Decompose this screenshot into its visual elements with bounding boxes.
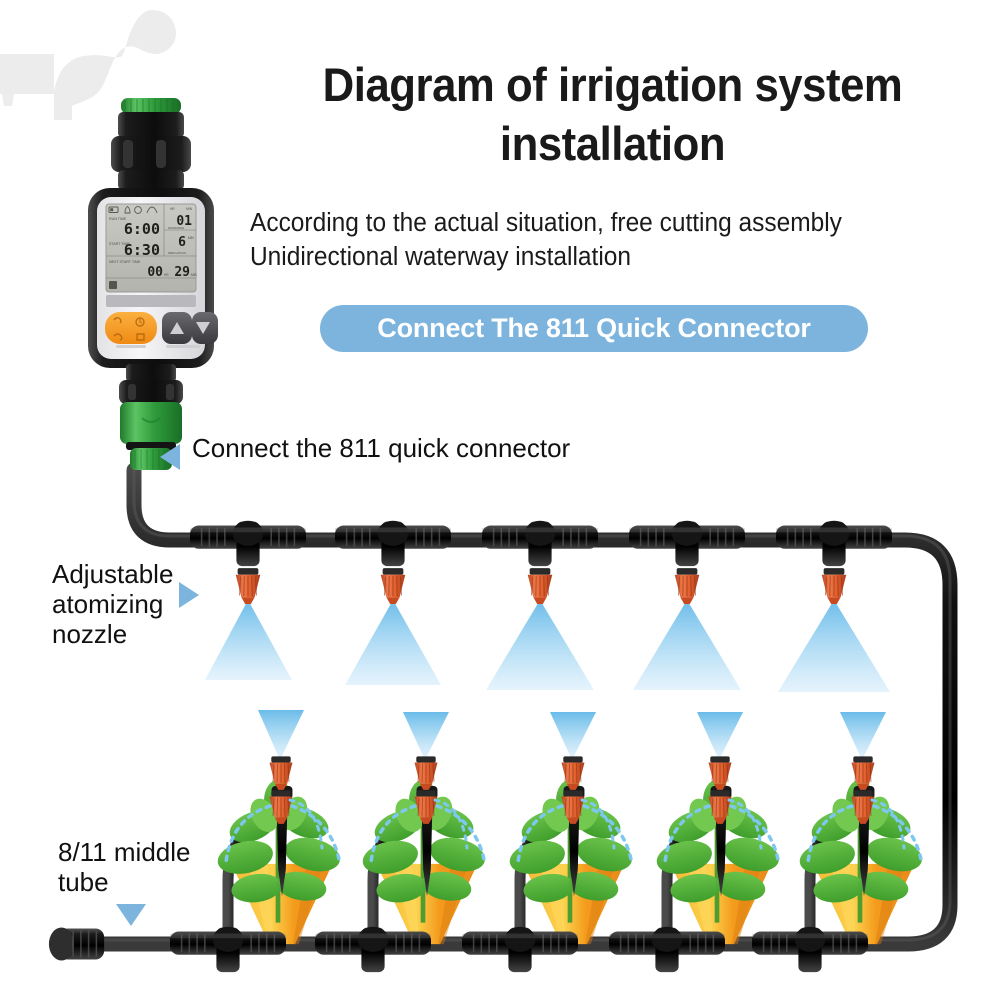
- upper-nozzle-assembly-2: [335, 521, 451, 604]
- callout-nozzle-line2: atomizing: [52, 590, 173, 620]
- tube-end-cap: [49, 928, 104, 961]
- lcd-next-start-label: NEXT START TIME: [109, 260, 141, 264]
- spray-cone: [840, 712, 886, 760]
- lcd-interval-unit-min: MIN: [186, 207, 193, 211]
- upper-nozzle-assembly-5: [776, 521, 892, 604]
- spray-cone: [633, 600, 741, 690]
- plant-assembly-3: [507, 756, 636, 944]
- lcd-start-time-value: 6:30: [124, 241, 160, 259]
- spray-cone: [778, 600, 890, 692]
- spray-cone-group-lower: [258, 710, 886, 760]
- bottom-tee-1: [170, 927, 286, 972]
- plant-assembly-1: [215, 756, 344, 944]
- bottom-tee-2: [315, 927, 431, 972]
- spray-cone-group-upper: [205, 600, 890, 692]
- plant-assembly-2: [360, 756, 489, 944]
- spray-cone: [550, 712, 596, 760]
- callout-nozzle-line1: Adjustable: [52, 560, 173, 590]
- lcd-mode-indicator: [109, 281, 117, 289]
- lcd-next-start-mins: 29: [174, 265, 190, 280]
- irrigation-timer-device[interactable]: RUN TIME 6:00 START TIME 6:30 HR MIN 01 …: [78, 96, 224, 476]
- spray-cone: [403, 712, 449, 760]
- inlet-coupler: [111, 112, 191, 190]
- bottom-tee-4: [609, 927, 725, 972]
- upper-nozzle-assembly-4: [629, 521, 745, 604]
- arrow-right-icon: [179, 582, 199, 608]
- lcd-next-start-hours: 00: [147, 265, 163, 280]
- lcd-duration-value: 6: [178, 235, 186, 250]
- callout-middle-tube: 8/11 middle tube: [58, 838, 191, 926]
- inlet-green-ring: [121, 98, 181, 114]
- upper-nozzle-assembly-3: [482, 521, 598, 604]
- lcd-duration-label: IRRIGATION: [168, 251, 186, 255]
- lcd-run-time-value: 6:00: [124, 220, 160, 238]
- bottom-tee-3: [462, 927, 578, 972]
- lcd-screen: RUN TIME 6:00 START TIME 6:30 HR MIN 01 …: [106, 204, 198, 292]
- callout-nozzle-label: Adjustable atomizing nozzle: [52, 560, 173, 650]
- callout-nozzle: Adjustable atomizing nozzle: [52, 560, 199, 650]
- callout-connector-label: Connect the 811 quick connector: [192, 435, 570, 461]
- lcd-next-start-mins-unit: MIN: [191, 273, 198, 277]
- lcd-interval-label: WATERING: [168, 226, 185, 230]
- spray-cone: [205, 600, 292, 680]
- spray-cone: [697, 712, 743, 760]
- callout-tube-label: 8/11 middle tube: [58, 838, 191, 898]
- bottom-tee-5: [752, 927, 868, 972]
- lcd-next-start-hours-unit: HR: [164, 273, 169, 277]
- callout-connector: Connect the 811 quick connector: [160, 440, 570, 470]
- arrow-left-icon: [160, 444, 180, 470]
- diagram-canvas: Diagram of irrigation system installatio…: [0, 0, 1001, 1001]
- callout-tube-line1: 8/11 middle: [58, 838, 191, 868]
- arrow-down-icon: [116, 904, 146, 926]
- callout-tube-line2: tube: [58, 868, 191, 898]
- upper-nozzle-assembly-1: [190, 521, 306, 604]
- lcd-interval-unit-hr: HR: [170, 207, 175, 211]
- plant-assembly-5: [797, 756, 926, 944]
- plant-assembly-4: [654, 756, 783, 944]
- lcd-duration-unit: MIN: [188, 236, 195, 240]
- spray-cone: [486, 600, 594, 690]
- callout-nozzle-line3: nozzle: [52, 620, 173, 650]
- timer-brand-strip: [106, 295, 196, 307]
- outlet-coupler: [119, 364, 183, 404]
- spray-cone: [345, 600, 441, 685]
- spray-cone: [258, 710, 304, 760]
